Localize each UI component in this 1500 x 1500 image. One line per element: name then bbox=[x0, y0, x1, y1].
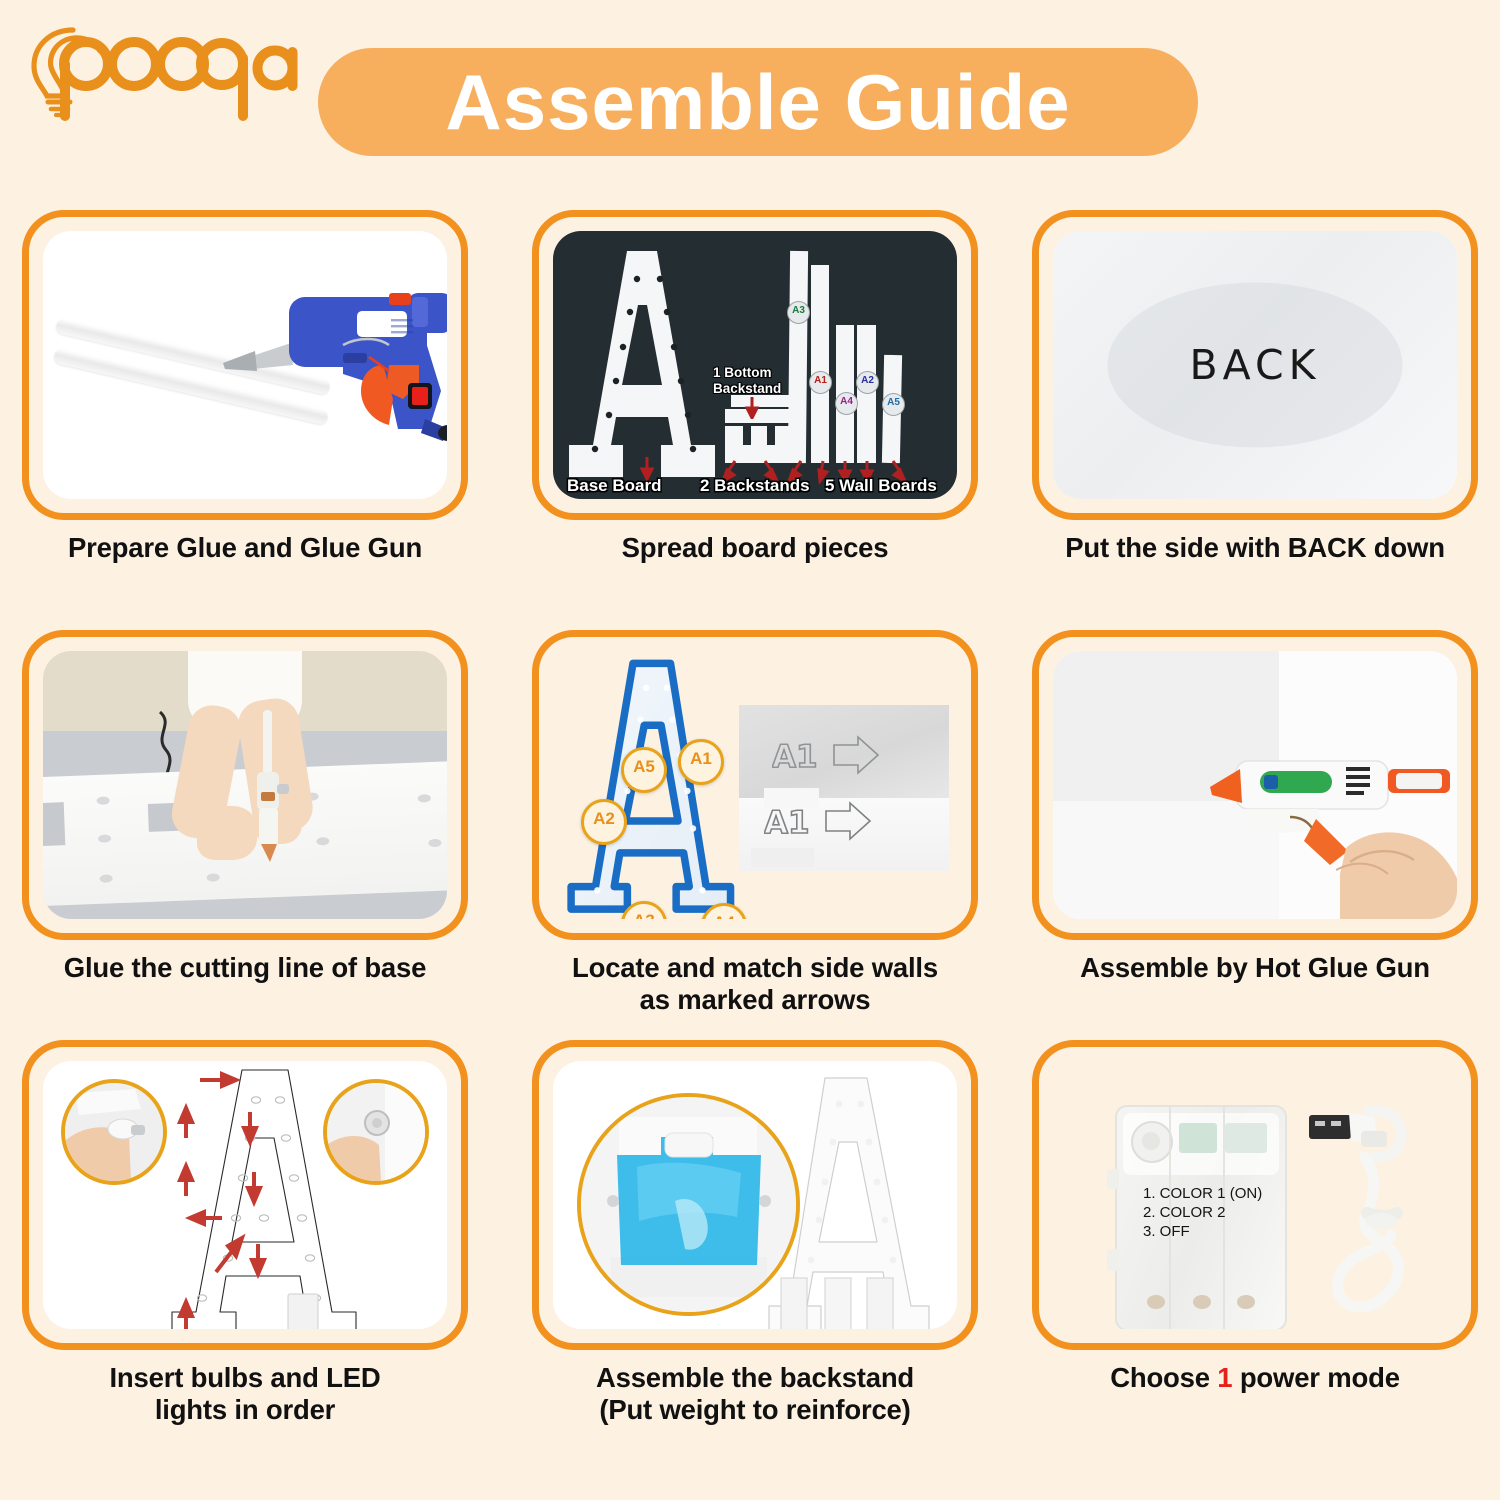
a1-marking-lower: A1 bbox=[764, 801, 904, 843]
step-7-caption-line1: Insert bulbs and LED bbox=[22, 1362, 468, 1394]
assembled-letter-a-icon bbox=[763, 1074, 933, 1329]
callout-arrow-icon bbox=[745, 397, 759, 419]
wall-board-a1 bbox=[811, 265, 829, 463]
power-button bbox=[1131, 1121, 1173, 1163]
wall-tag-a4: A4 bbox=[835, 392, 858, 415]
backstand-piece bbox=[731, 395, 793, 407]
glue-applicator-icon bbox=[237, 710, 307, 880]
step-8-caption-line1: Assemble the backstand bbox=[532, 1362, 978, 1394]
step-7-panel bbox=[22, 1040, 468, 1350]
power-mode-2: 2. COLOR 2 bbox=[1143, 1204, 1262, 1223]
step-1-caption: Prepare Glue and Glue Gun bbox=[22, 532, 468, 564]
step-6-caption: Assemble by Hot Glue Gun bbox=[1032, 952, 1478, 984]
label-base-board: Base Board bbox=[567, 476, 661, 496]
backstand-with-water-weight-image bbox=[553, 1061, 957, 1329]
bulb-hole bbox=[99, 875, 112, 883]
step-card-3: BACK Put the side with BACK down bbox=[1032, 210, 1492, 564]
base-board-letter-a bbox=[565, 249, 715, 479]
bottom-backstand-callout-line2: Backstand bbox=[713, 381, 781, 396]
step-9-panel: 1. COLOR 1 (ON) 2. COLOR 2 3. OFF bbox=[1032, 1040, 1478, 1350]
backstand-gap bbox=[725, 423, 789, 426]
lightbulb-icon bbox=[18, 18, 298, 128]
bulb-insert-detail-left bbox=[61, 1079, 167, 1185]
page-header: Assemble Guide bbox=[0, 0, 1500, 190]
letter-a-with-wall-markers-image: A1 A2 A3 A4 A5 A1 A1 bbox=[553, 651, 957, 919]
bulb-hole bbox=[428, 839, 441, 847]
hands-gluing-base-board-image bbox=[43, 651, 447, 919]
step-5-caption-line2: as marked arrows bbox=[532, 984, 978, 1016]
step-9-caption: Choose 1 power mode bbox=[1032, 1362, 1478, 1394]
battery-box: 1. COLOR 1 (ON) 2. COLOR 2 3. OFF bbox=[1115, 1105, 1287, 1329]
step-9-caption-prefix: Choose bbox=[1110, 1362, 1217, 1393]
bulb-hole bbox=[98, 835, 111, 843]
svg-text:A1: A1 bbox=[764, 805, 810, 841]
wall-board-a3 bbox=[788, 251, 808, 463]
step-card-9: 1. COLOR 1 (ON) 2. COLOR 2 3. OFF bbox=[1032, 1040, 1492, 1394]
step-8-panel bbox=[532, 1040, 978, 1350]
step-5-caption: Locate and match side walls as marked ar… bbox=[532, 952, 978, 1017]
wall-tag-a1: A1 bbox=[809, 371, 832, 394]
bulb-hole bbox=[417, 794, 430, 802]
letter-a-bulb-insert-order-image bbox=[43, 1061, 447, 1329]
step-8-caption: Assemble the backstand (Put weight to re… bbox=[532, 1362, 978, 1427]
dark-backdrop: A3 A1 A4 A2 A5 1 Bottom Backstand bbox=[553, 231, 957, 499]
label-5-wall-boards: 5 Wall Boards bbox=[825, 476, 937, 496]
bulb-hole bbox=[316, 837, 329, 845]
battery-box-and-usb-cable-image: 1. COLOR 1 (ON) 2. COLOR 2 3. OFF bbox=[1053, 1061, 1457, 1329]
usb-cable-icon bbox=[1305, 1101, 1435, 1329]
step-card-1: Prepare Glue and Glue Gun bbox=[22, 210, 482, 564]
page-title: Assemble Guide bbox=[445, 63, 1070, 141]
marker-a1: A1 bbox=[678, 739, 724, 785]
board-tab bbox=[751, 848, 814, 868]
brand-logo bbox=[18, 18, 298, 128]
wall-board-photo: A1 A1 bbox=[739, 705, 949, 871]
backstand-notch bbox=[743, 425, 751, 445]
power-mode-3: 3. OFF bbox=[1143, 1223, 1262, 1242]
acrylic-board-back-side-image: BACK bbox=[1053, 231, 1457, 499]
step-9-caption-number: 1 bbox=[1217, 1362, 1232, 1393]
step-5-panel: A1 A2 A3 A4 A5 A1 A1 bbox=[532, 630, 978, 940]
step-3-caption: Put the side with BACK down bbox=[1032, 532, 1478, 564]
steps-grid: Prepare Glue and Glue Gun bbox=[0, 200, 1500, 1500]
power-mode-list: 1. COLOR 1 (ON) 2. COLOR 2 3. OFF bbox=[1143, 1185, 1262, 1242]
battery-contact bbox=[1147, 1295, 1165, 1309]
battery-contact bbox=[1237, 1295, 1255, 1309]
step-card-4: Glue the cutting line of base bbox=[22, 630, 482, 984]
hand-icon bbox=[1336, 812, 1457, 919]
board-pieces-layout-image: A3 A1 A4 A2 A5 1 Bottom Backstand bbox=[553, 231, 957, 499]
marker-a5: A5 bbox=[621, 747, 667, 793]
step-7-caption-line2: lights in order bbox=[22, 1394, 468, 1426]
bulb-hole bbox=[96, 796, 109, 804]
power-mode-1: 1. COLOR 1 (ON) bbox=[1143, 1185, 1262, 1204]
bulb-hole bbox=[206, 873, 219, 881]
label-2-backstands: 2 Backstands bbox=[700, 476, 810, 496]
hot-glue-gun-applying-glue-image bbox=[1053, 651, 1457, 919]
backstand-notch bbox=[767, 425, 775, 445]
a1-marking-upper: A1 bbox=[772, 735, 912, 777]
back-label: BACK bbox=[1190, 341, 1321, 389]
step-card-8: Assemble the backstand (Put weight to re… bbox=[532, 1040, 992, 1427]
step-card-6: Assemble by Hot Glue Gun bbox=[1032, 630, 1492, 984]
step-7-caption: Insert bulbs and LED lights in order bbox=[22, 1362, 468, 1427]
bottom-backstand-callout-line1: 1 Bottom bbox=[713, 365, 772, 380]
bulb-insert-detail-right bbox=[323, 1079, 429, 1185]
wall-board-a2 bbox=[857, 325, 876, 463]
step-9-caption-suffix: power mode bbox=[1232, 1362, 1399, 1393]
battery-box-clip bbox=[1107, 1169, 1119, 1189]
step-3-panel: BACK bbox=[1032, 210, 1478, 520]
battery-box-clip bbox=[1107, 1249, 1119, 1271]
circuit-board bbox=[1179, 1123, 1217, 1153]
step-card-5: A1 A2 A3 A4 A5 A1 A1 bbox=[532, 630, 992, 1017]
wall-tag-a3: A3 bbox=[787, 301, 810, 324]
wall-tag-a2: A2 bbox=[856, 371, 879, 394]
wall-tag-a5: A5 bbox=[882, 393, 905, 416]
step-4-panel bbox=[22, 630, 468, 940]
step-4-caption: Glue the cutting line of base bbox=[22, 952, 468, 984]
glue-gun-and-glue-sticks-image bbox=[43, 231, 447, 499]
board-slot bbox=[43, 802, 66, 848]
hand-inserting-bulb-icon bbox=[65, 1083, 163, 1181]
hand-fastening-bulb-icon bbox=[327, 1083, 425, 1181]
step-8-caption-line2: (Put weight to reinforce) bbox=[532, 1394, 978, 1426]
svg-text:A1: A1 bbox=[772, 739, 818, 775]
step-2-panel: A3 A1 A4 A2 A5 1 Bottom Backstand bbox=[532, 210, 978, 520]
page-title-banner: Assemble Guide bbox=[318, 48, 1198, 156]
step-5-caption-line1: Locate and match side walls bbox=[532, 952, 978, 984]
step-2-caption: Spread board pieces bbox=[532, 532, 978, 564]
glue-gun-icon bbox=[193, 279, 447, 469]
step-1-panel bbox=[22, 210, 468, 520]
circuit-board bbox=[1225, 1123, 1267, 1153]
step-6-panel bbox=[1032, 630, 1478, 940]
marker-a2: A2 bbox=[581, 799, 627, 845]
battery-contact bbox=[1193, 1295, 1211, 1309]
step-card-7: Insert bulbs and LED lights in order bbox=[22, 1040, 482, 1427]
step-card-2: A3 A1 A4 A2 A5 1 Bottom Backstand bbox=[532, 210, 992, 564]
